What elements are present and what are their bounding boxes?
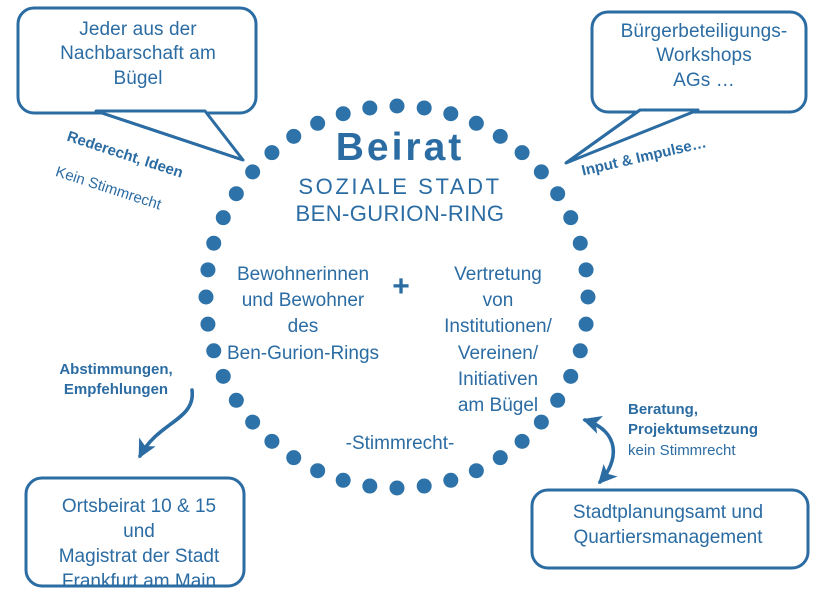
box-bottom-right-text: Stadtplanungsamt und Quartiersmanagement xyxy=(528,500,808,550)
ring-dot xyxy=(362,479,377,494)
bubble-top-right-text: Bürgerbeteiligungs- Workshops AGs … xyxy=(600,20,808,93)
ring-dot xyxy=(469,463,484,478)
arrow-label-bold: Beratung, Projektumsetzung xyxy=(628,400,808,441)
ring-dot xyxy=(579,262,594,277)
ring-dot xyxy=(515,434,530,449)
ring-dot xyxy=(443,106,458,121)
ring-dot xyxy=(563,210,578,225)
arrow-label-abstimmungen: Abstimmungen, Empfehlungen xyxy=(36,360,196,401)
ring-dot xyxy=(390,99,405,114)
ring-dot xyxy=(336,473,351,488)
ring-dot xyxy=(336,106,351,121)
center-column-residents: Bewohnerinnen und Bewohner des Ben-Gurio… xyxy=(214,262,392,367)
center-column-institutions: Vertretung von Institutionen/ Vereinen/ … xyxy=(418,262,578,419)
arrow-stadtplanungsamt-bidirectional xyxy=(585,420,613,482)
page-title: Beirat xyxy=(240,128,560,167)
ring-dot xyxy=(229,393,244,408)
arrow-label-normal: kein Stimmrecht xyxy=(628,441,808,461)
ring-dot xyxy=(443,473,458,488)
ring-dot xyxy=(581,290,596,305)
center-voting-note: -Stimmrecht- xyxy=(300,432,500,456)
ring-dot xyxy=(573,236,588,251)
ring-dot xyxy=(417,479,432,494)
plus-symbol: + xyxy=(384,272,418,302)
ring-dot xyxy=(417,100,432,115)
ring-dot xyxy=(245,415,260,430)
ring-dot xyxy=(579,317,594,332)
box-bottom-left-text: Ortsbeirat 10 & 15 und Magistrat der Sta… xyxy=(36,494,242,594)
ring-dot xyxy=(216,369,231,384)
ring-dot xyxy=(310,463,325,478)
page-subtitle-1: SOZIALE STADT xyxy=(240,176,560,198)
ring-dot xyxy=(286,450,301,465)
ring-dot xyxy=(264,434,279,449)
ring-dot xyxy=(390,481,405,496)
bubble-top-left-text: Jeder aus der Nachbarschaft am Bügel xyxy=(30,18,246,91)
page-subtitle-2: BEN-GURION-RING xyxy=(240,203,560,225)
diagram-canvas: Jeder aus der Nachbarschaft am Bügel Red… xyxy=(0,0,820,600)
ring-dot xyxy=(199,290,214,305)
ring-dot xyxy=(362,100,377,115)
arrow-label-beratung: Beratung, Projektumsetzung kein Stimmrec… xyxy=(628,400,808,461)
